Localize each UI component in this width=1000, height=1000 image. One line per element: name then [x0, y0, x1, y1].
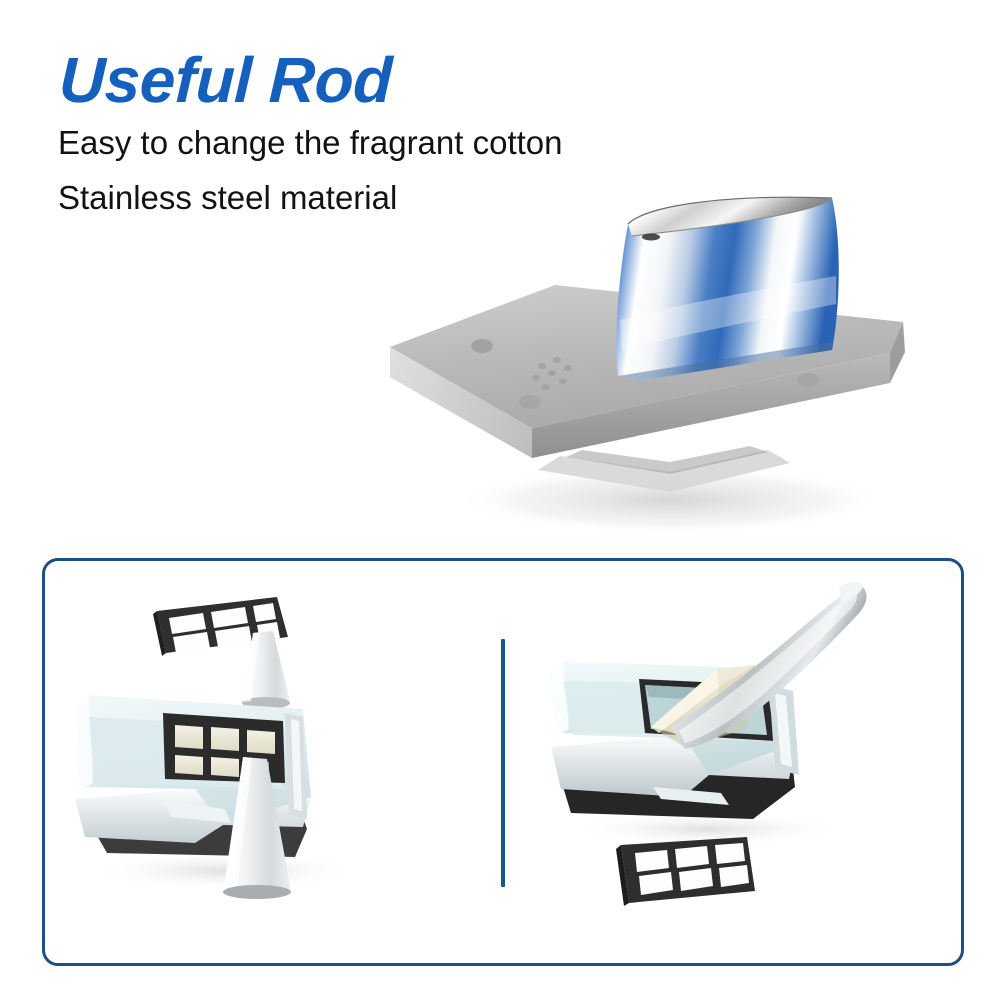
right-lower-grille	[616, 837, 755, 906]
detail-panel	[42, 558, 964, 966]
detail-panel-right	[503, 561, 961, 963]
hero-screw-dot-1	[471, 339, 493, 353]
hero-product-image	[370, 180, 950, 540]
hero-screw-dot-2	[519, 395, 541, 409]
page-root: Useful Rod Easy to change the fragrant c…	[0, 0, 1000, 1000]
hero-chrome-rim-notch	[642, 234, 660, 241]
hero-screw-dot-3	[797, 373, 819, 387]
detail-panel-left	[45, 561, 503, 963]
page-title: Useful Rod	[58, 48, 700, 112]
left-device-unit	[75, 695, 365, 891]
left-floating-rod	[242, 631, 290, 709]
subtitle-line-1: Easy to change the fragrant cotton	[58, 126, 698, 159]
